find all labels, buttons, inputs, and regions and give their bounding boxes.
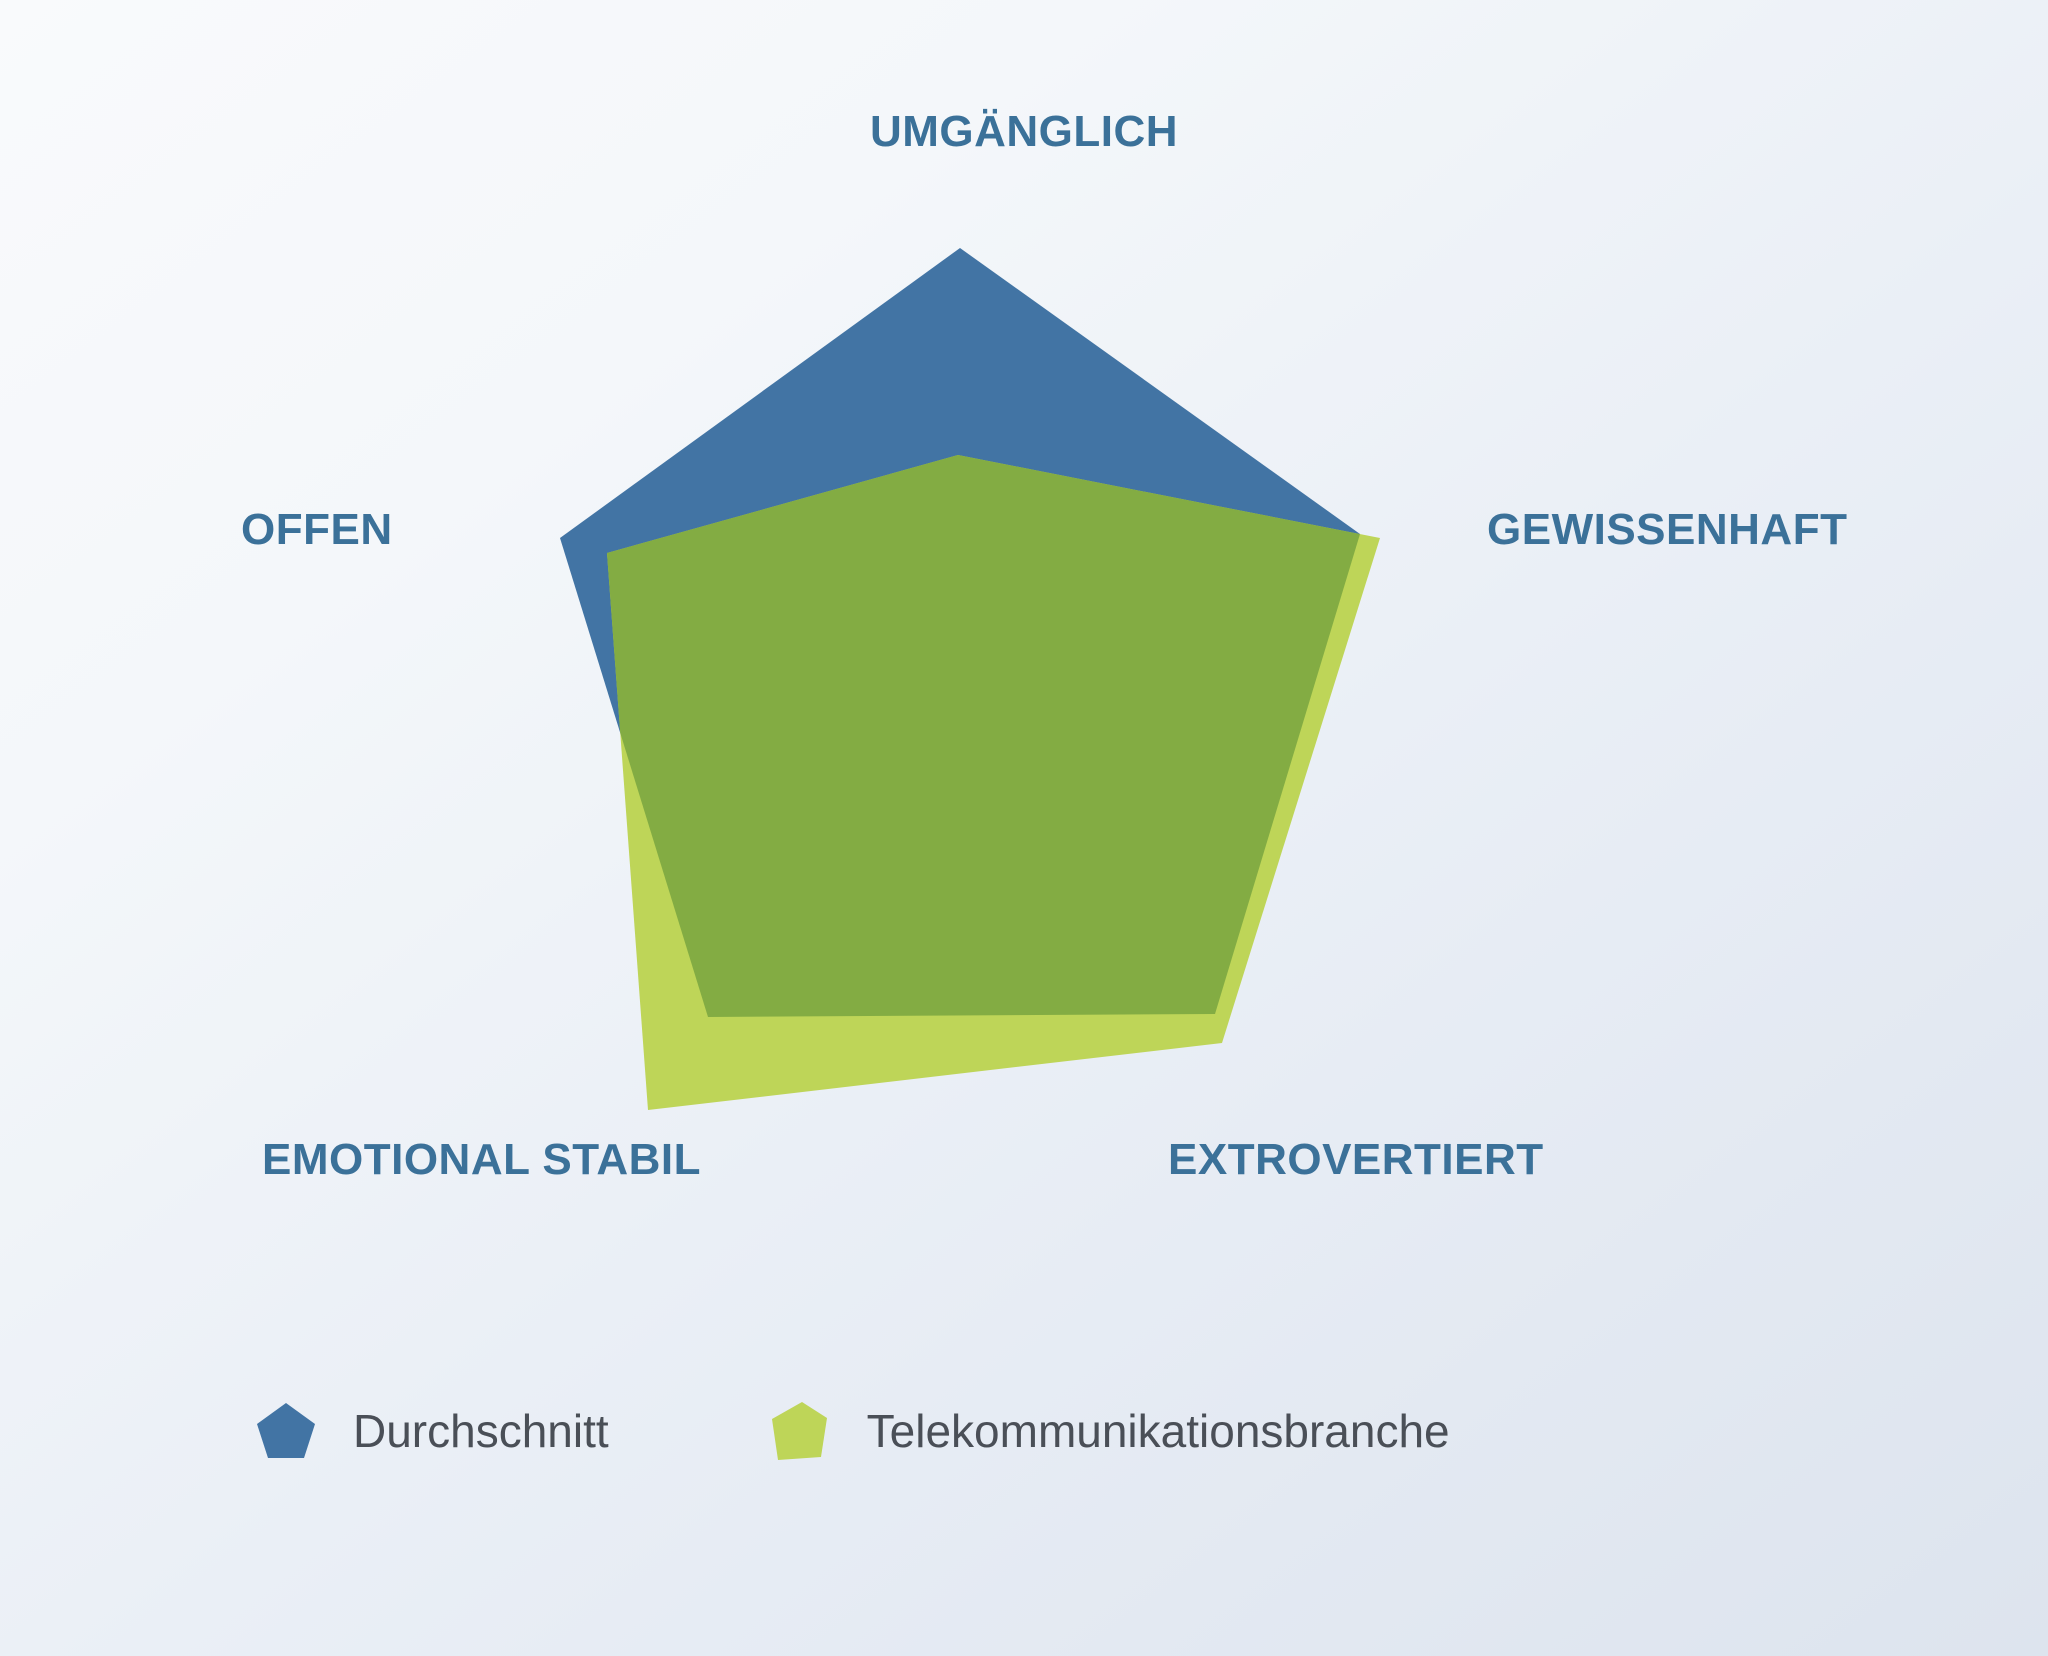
series-overlap-region-group (607, 455, 1380, 1110)
legend-item-durchschnitt[interactable]: Durchschnitt (255, 1400, 609, 1462)
chart-legend: Durchschnitt Telekommunikationsbranche (255, 1400, 1450, 1462)
legend-item-telekommunikationsbranche[interactable]: Telekommunikationsbranche (769, 1400, 1450, 1462)
axis-label-umgaenglich: UMGÄNGLICH (0, 110, 2048, 154)
radar-chart-container: UMGÄNGLICH GEWISSENHAFT OFFEN EMOTIONAL … (0, 0, 2048, 1656)
axis-label-offen: OFFEN (241, 508, 393, 552)
axis-label-emotional-stabil: EMOTIONAL STABIL (262, 1138, 701, 1182)
axis-label-gewissenhaft: GEWISSENHAFT (1487, 508, 1847, 552)
pentagon-marker-blue-icon (255, 1400, 317, 1462)
axis-label-extrovertiert: EXTROVERTIERT (1168, 1138, 1544, 1182)
legend-label-durchschnitt: Durchschnitt (353, 1408, 609, 1454)
pentagon-marker-green-icon (769, 1400, 831, 1462)
legend-label-telekommunikationsbranche: Telekommunikationsbranche (867, 1408, 1450, 1454)
series-overlap-region (607, 455, 1380, 1110)
